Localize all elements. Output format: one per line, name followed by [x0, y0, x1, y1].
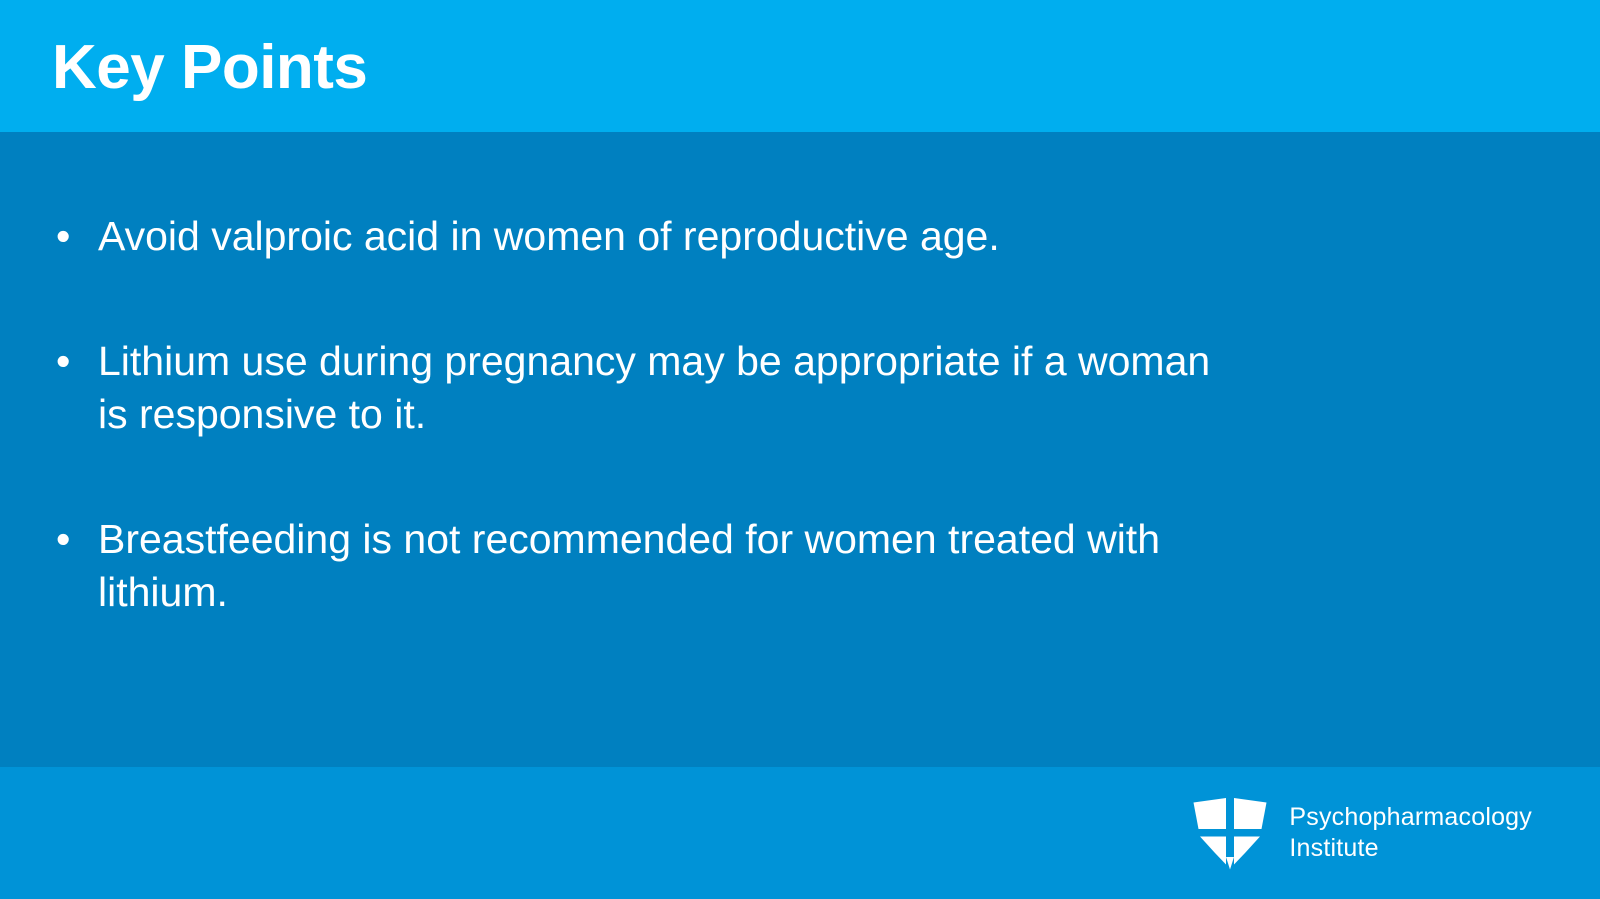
slide-body: • Avoid valproic acid in women of reprod…	[0, 132, 1600, 767]
key-points-list: • Avoid valproic acid in women of reprod…	[50, 210, 1480, 619]
brand-name-line2: Institute	[1289, 833, 1532, 864]
slide: Key Points • Avoid valproic acid in wome…	[0, 0, 1600, 899]
shield-quadrant-logo-icon	[1189, 795, 1271, 871]
brand-name-line1: Psychopharmacology	[1289, 802, 1532, 833]
list-item-text: Breastfeeding is not recommended for wom…	[98, 513, 1228, 619]
list-item: • Breastfeeding is not recommended for w…	[50, 513, 1480, 619]
list-item: • Lithium use during pregnancy may be ap…	[50, 335, 1480, 441]
bullet-marker-icon: •	[56, 513, 104, 566]
list-item-text: Lithium use during pregnancy may be appr…	[98, 335, 1228, 441]
bullet-marker-icon: •	[56, 335, 104, 388]
brand-logo: Psychopharmacology Institute	[1189, 795, 1532, 871]
slide-footer: Psychopharmacology Institute	[0, 767, 1600, 899]
page-title: Key Points	[52, 37, 367, 99]
brand-wordmark: Psychopharmacology Institute	[1289, 802, 1532, 864]
slide-header: Key Points	[0, 0, 1600, 132]
list-item-text: Avoid valproic acid in women of reproduc…	[98, 210, 1228, 263]
list-item: • Avoid valproic acid in women of reprod…	[50, 210, 1480, 263]
bullet-marker-icon: •	[56, 210, 104, 263]
